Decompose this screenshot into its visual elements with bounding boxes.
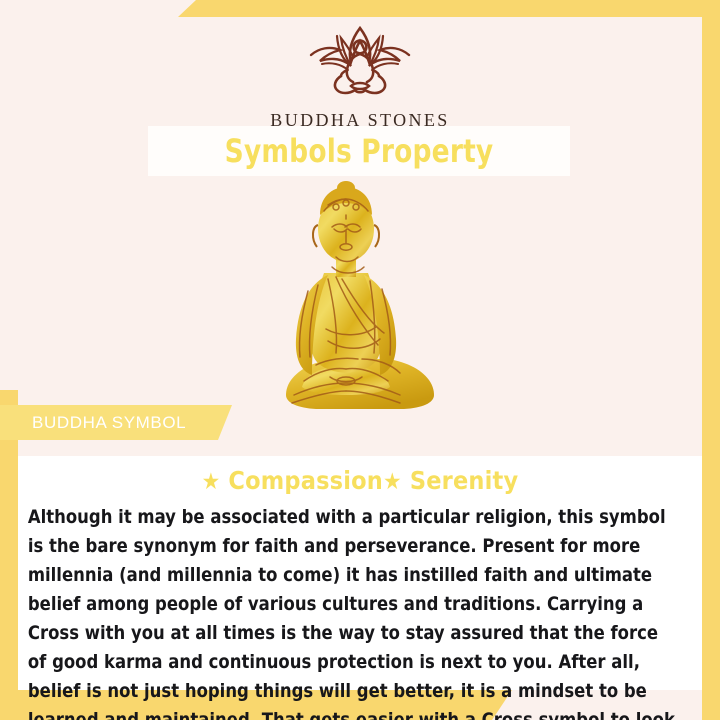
lotus-meditation-icon — [0, 22, 720, 105]
content-body: Although it may be associated with a par… — [18, 503, 692, 720]
page-title: Symbols Property — [225, 132, 494, 170]
subtitle-word-compassion: Compassion — [220, 466, 383, 495]
hero-image — [0, 176, 720, 421]
status-badge: BUDDHA SYMBOL — [0, 405, 240, 440]
star-icon-2: ★ — [383, 469, 402, 495]
decorative-top-bar — [0, 0, 720, 17]
title-banner: Symbols Property — [148, 126, 570, 176]
seated-golden-buddha-illustration — [272, 181, 448, 421]
content-subtitle: ★ Compassion★ Serenity — [18, 456, 702, 495]
brand-logo-block: BUDDHA STONES — [0, 22, 720, 131]
content-card: ★ Compassion★ Serenity Although it may b… — [18, 456, 702, 690]
badge-label: BUDDHA SYMBOL — [32, 413, 186, 433]
promo-poster: BUDDHA STONES Symbols Property — [0, 0, 720, 720]
subtitle-word-serenity: Serenity — [402, 466, 519, 495]
star-icon-1: ★ — [202, 469, 221, 495]
